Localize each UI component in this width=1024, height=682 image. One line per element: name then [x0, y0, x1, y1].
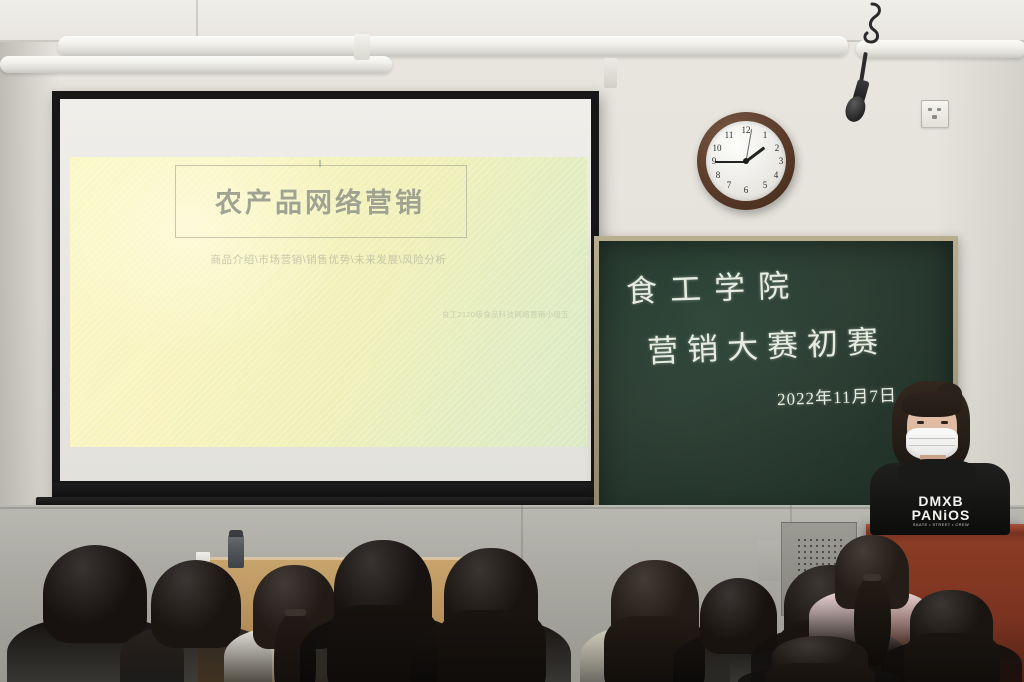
clock-numeral: 3 — [774, 156, 788, 166]
wall-clock: 12 1 2 3 4 5 6 7 8 9 10 11 — [697, 112, 795, 210]
presenter-hood — [898, 459, 976, 487]
clock-face: 12 1 2 3 4 5 6 7 8 9 10 11 — [706, 121, 786, 201]
audience-member — [900, 590, 1004, 682]
clock-numeral: 4 — [769, 170, 783, 180]
clock-numeral: 6 — [739, 185, 753, 195]
audience-head — [151, 560, 241, 648]
audience-long-hair — [765, 663, 875, 682]
clock-numeral: 10 — [710, 143, 724, 153]
clock-minute-hand — [715, 161, 746, 163]
pipe-coupling — [354, 34, 370, 60]
slide-footer: 食工2120级食品科技网络营销小组五 — [442, 309, 569, 320]
hair-tie — [863, 574, 881, 581]
presentation-slide: 农产品网络营销 商品介绍\市场营销\销售优势\未来发展\风险分析 食工2120级… — [70, 157, 587, 447]
clock-center-pin — [743, 158, 749, 164]
ceiling-conduit-pipe-lower — [0, 56, 392, 73]
presenter-fringe — [902, 391, 962, 417]
chalk-line-1: 食工学院 — [625, 260, 802, 311]
audience-member — [760, 636, 880, 682]
clock-numeral: 2 — [770, 143, 784, 153]
pipe-bracket — [604, 58, 617, 88]
audience-long-hair — [437, 610, 546, 682]
audience-head — [43, 545, 147, 643]
slide-subtitle: 商品介绍\市场营销\销售优势\未来发展\风险分析 — [70, 252, 587, 267]
audience-long-hair — [904, 633, 1000, 682]
classroom-photo: 12 1 2 3 4 5 6 7 8 9 10 11 农产品网络营销 — [0, 0, 1024, 682]
wall-outlet-icon — [921, 100, 949, 128]
face-mask-fold — [909, 438, 955, 439]
ceiling-conduit-pipe — [58, 36, 848, 56]
screen-surface: 农产品网络营销 商品介绍\市场营销\销售优势\未来发展\风险分析 食工2120级… — [60, 99, 591, 481]
projection-screen: 农产品网络营销 商品介绍\市场营销\销售优势\未来发展\风险分析 食工2120级… — [52, 91, 599, 503]
hook-icon — [852, 2, 892, 64]
clock-numeral: 1 — [758, 130, 772, 140]
audience — [0, 500, 1024, 682]
audience-member — [432, 548, 550, 682]
clock-numeral: 11 — [722, 130, 736, 140]
hair-tie — [285, 609, 306, 616]
slide-title: 农产品网络营销 — [175, 165, 465, 236]
clock-numeral: 8 — [711, 170, 725, 180]
presenter-eye-right — [941, 421, 948, 424]
clock-numeral: 5 — [758, 180, 772, 190]
clock-numeral: 7 — [722, 180, 736, 190]
face-mask-fold-2 — [909, 445, 955, 446]
presenter-eye-left — [917, 421, 924, 424]
